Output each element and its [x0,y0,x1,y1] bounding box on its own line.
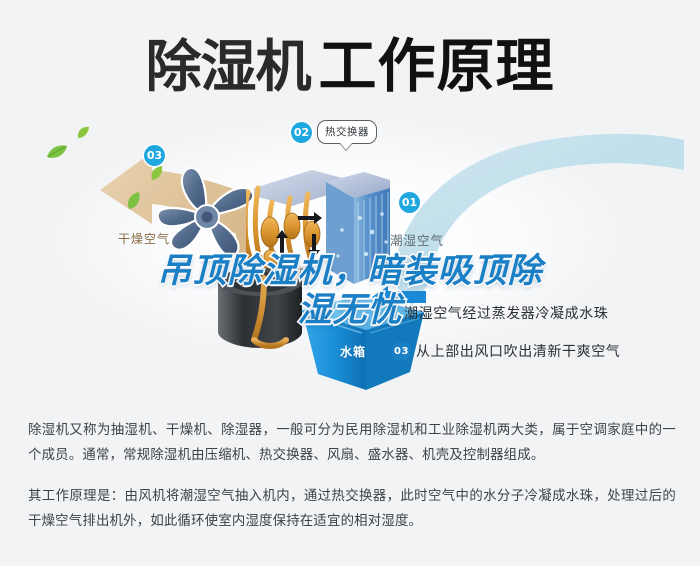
body-paragraph-2: 其工作原理是：由风机将潮湿空气抽入机内，通过热交换器，此时空气中的水分子冷凝成水… [28,484,676,534]
page-header: 除湿机 工作原理 [0,24,700,98]
heat-exchanger-callout: 热交换器 [317,120,377,144]
water-tank-label: 水箱 [340,343,366,360]
step-badge-01: 01 [399,192,420,213]
page-title-part2: 工作原理 [318,19,554,103]
page-title-part1: 除湿机 [145,22,310,103]
caption-step-02: 潮湿空气经过蒸发器冷凝成水珠 [404,303,608,323]
step-badge-02-diagram: 02 [291,122,312,143]
compressor-label: 压缩机 [276,266,308,279]
caption-step-02-text: 潮湿空气经过蒸发器冷凝成水珠 [404,303,608,323]
body-paragraph-1: 除湿机又称为抽湿机、干燥机、除湿器，一般可分为民用除湿机和工业除湿机两大类，属于… [28,418,676,468]
body-text-block: 除湿机又称为抽湿机、干燥机、除湿器，一般可分为民用除湿机和工业除湿机两大类，属于… [28,418,676,534]
caption-step-03: 03 从上部出风口吹出清新干爽空气 [392,341,620,361]
humid-air-flow-arrow [386,130,686,310]
caption-step-03-badge: 03 [392,342,411,361]
caption-step-03-text: 从上部出风口吹出清新干爽空气 [416,341,620,361]
infographic-page: 除湿机 工作原理 潮湿空气 01 [0,0,700,566]
leaf-icon-2 [76,126,90,144]
page-title: 除湿机 工作原理 [145,19,554,103]
leaf-icon-1 [46,144,68,165]
leaf-icon-3 [126,192,141,215]
humid-air-label: 潮湿空气 [390,230,444,249]
